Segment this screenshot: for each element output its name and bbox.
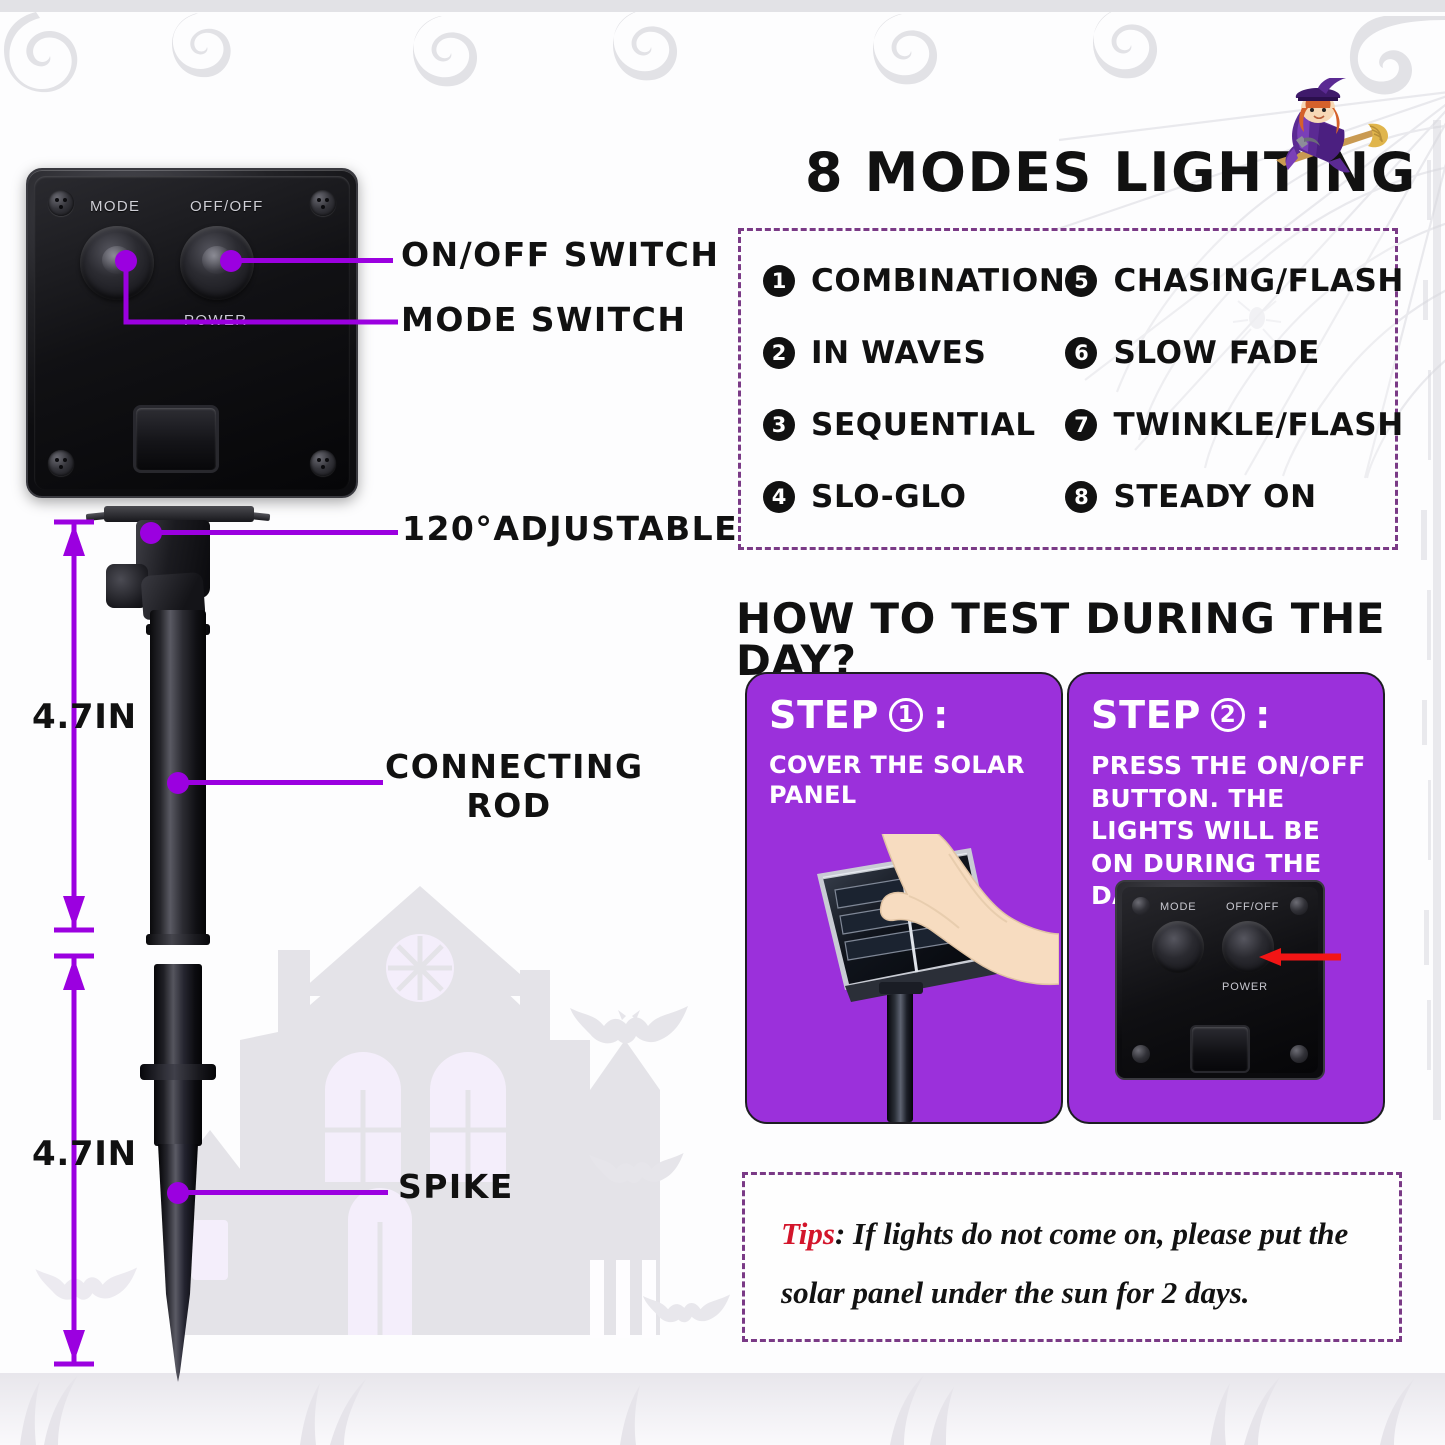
mode-number: 3 <box>763 409 795 441</box>
mode-item: 3 SEQUENTIAL <box>763 409 1065 441</box>
callout-line-spike <box>178 1190 388 1195</box>
step-2-heading: STEP 2 : <box>1091 696 1271 734</box>
mode-label: SLO-GLO <box>811 482 967 513</box>
mode-item: 4 SLO-GLO <box>763 481 1065 513</box>
step-2-word: STEP <box>1091 696 1201 734</box>
mode-number: 5 <box>1065 265 1097 297</box>
infographic-page: MODE OFF/OFF POWER <box>0 0 1445 1445</box>
mode-label: TWINKLE/FLASH <box>1113 410 1403 441</box>
hand-covering-solar-panel-illustration <box>759 834 1059 1124</box>
screw-icon <box>310 450 336 476</box>
callout-line-connecting-rod <box>178 780 383 785</box>
screw-icon <box>48 450 74 476</box>
callout-label-mode-switch: MODE SWITCH <box>401 303 686 336</box>
step-1-heading: STEP 1 : <box>769 696 949 734</box>
mode-label: IN WAVES <box>811 338 986 369</box>
spike-flange <box>140 1064 216 1080</box>
dimension-label-spike: 4.7IN <box>32 1137 137 1171</box>
how-to-test-title: HOW TO TEST DURING THE DAY? <box>736 598 1445 682</box>
mode-label: SLOW FADE <box>1113 338 1319 369</box>
pole-assembly <box>100 498 270 1398</box>
product-diagram-column: MODE OFF/OFF POWER <box>0 0 735 1445</box>
step-1-colon: : <box>933 696 949 734</box>
step-2-colon: : <box>1255 696 1271 734</box>
tips-body: : If lights do not come on, please put t… <box>781 1216 1348 1310</box>
tips-box: Tips: If lights do not come on, please p… <box>742 1172 1402 1342</box>
mode-label: CHASING/FLASH <box>1113 266 1404 297</box>
mode-number: 6 <box>1065 337 1097 369</box>
callout-label-onoff-switch: ON/OFF SWITCH <box>401 238 719 271</box>
screw-icon <box>1132 897 1150 915</box>
modes-grid: 1 COMBINATION 2 IN WAVES 3 SEQUENTIAL 4 … <box>741 231 1395 547</box>
screw-icon <box>1290 897 1308 915</box>
control-label-onoff: OFF/OFF <box>190 198 264 215</box>
mode-item: 6 SLOW FADE <box>1065 337 1404 369</box>
screw-icon <box>1132 1045 1150 1063</box>
screw-icon <box>310 190 336 216</box>
mini-light-sensor <box>1192 1027 1248 1071</box>
mini-control-box: MODE OFF/OFF POWER <box>1115 880 1325 1080</box>
control-label-mode: MODE <box>90 198 140 215</box>
features-column: 8 MODES LIGHTING <box>720 0 1445 1445</box>
mode-label: COMBINATION <box>811 266 1065 297</box>
modes-list-box: 1 COMBINATION 2 IN WAVES 3 SEQUENTIAL 4 … <box>738 228 1398 550</box>
step-card-1: STEP 1 : COVER THE SOLAR PANEL <box>745 672 1063 1124</box>
spike-shaft <box>154 964 202 1146</box>
mode-number: 1 <box>763 265 795 297</box>
callout-line-adjustable <box>151 530 398 535</box>
screw-icon <box>48 190 74 216</box>
spike-tip <box>156 1144 200 1384</box>
mode-number: 8 <box>1065 481 1097 513</box>
mode-item: 8 STEADY ON <box>1065 481 1404 513</box>
callout-line-mode <box>120 250 400 334</box>
step-2-number: 2 <box>1211 698 1245 732</box>
red-arrow-icon <box>1255 948 1341 966</box>
tips-text: Tips: If lights do not come on, please p… <box>781 1205 1377 1323</box>
mode-label: STEADY ON <box>1113 482 1316 513</box>
light-sensor <box>136 408 216 470</box>
press-onoff-illustration: MODE OFF/OFF POWER <box>1105 870 1341 1100</box>
mode-number: 2 <box>763 337 795 369</box>
callout-label-adjustable: 120°ADJUSTABLE <box>402 512 738 545</box>
mode-item: 7 TWINKLE/FLASH <box>1065 409 1404 441</box>
mini-label-power: POWER <box>1222 981 1268 993</box>
mini-label-onoff: OFF/OFF <box>1226 901 1279 913</box>
mode-label: SEQUENTIAL <box>811 410 1036 441</box>
mode-item: 1 COMBINATION <box>763 265 1065 297</box>
step-card-2: STEP 2 : PRESS THE ON/OFF BUTTON. THE LI… <box>1067 672 1385 1124</box>
mini-mode-button[interactable] <box>1152 921 1204 973</box>
rod-collar-bottom <box>146 934 210 945</box>
mode-item: 2 IN WAVES <box>763 337 1065 369</box>
mode-number: 4 <box>763 481 795 513</box>
mini-label-mode: MODE <box>1160 901 1197 913</box>
tips-keyword: Tips <box>781 1216 835 1251</box>
dimension-label-rod: 4.7IN <box>32 700 137 734</box>
mode-number: 7 <box>1065 409 1097 441</box>
witch-on-broom-icon <box>1258 78 1390 190</box>
callout-label-connecting-rod: CONNECTING ROD <box>385 748 633 826</box>
step-1-number: 1 <box>889 698 923 732</box>
step-1-word: STEP <box>769 696 879 734</box>
callout-label-spike: SPIKE <box>398 1170 514 1203</box>
callout-dot-mode <box>115 250 137 272</box>
mini-control-face: MODE OFF/OFF POWER <box>1122 887 1318 1073</box>
mode-item: 5 CHASING/FLASH <box>1065 265 1404 297</box>
step-1-body: COVER THE SOLAR PANEL <box>769 750 1047 810</box>
screw-icon <box>1290 1045 1308 1063</box>
